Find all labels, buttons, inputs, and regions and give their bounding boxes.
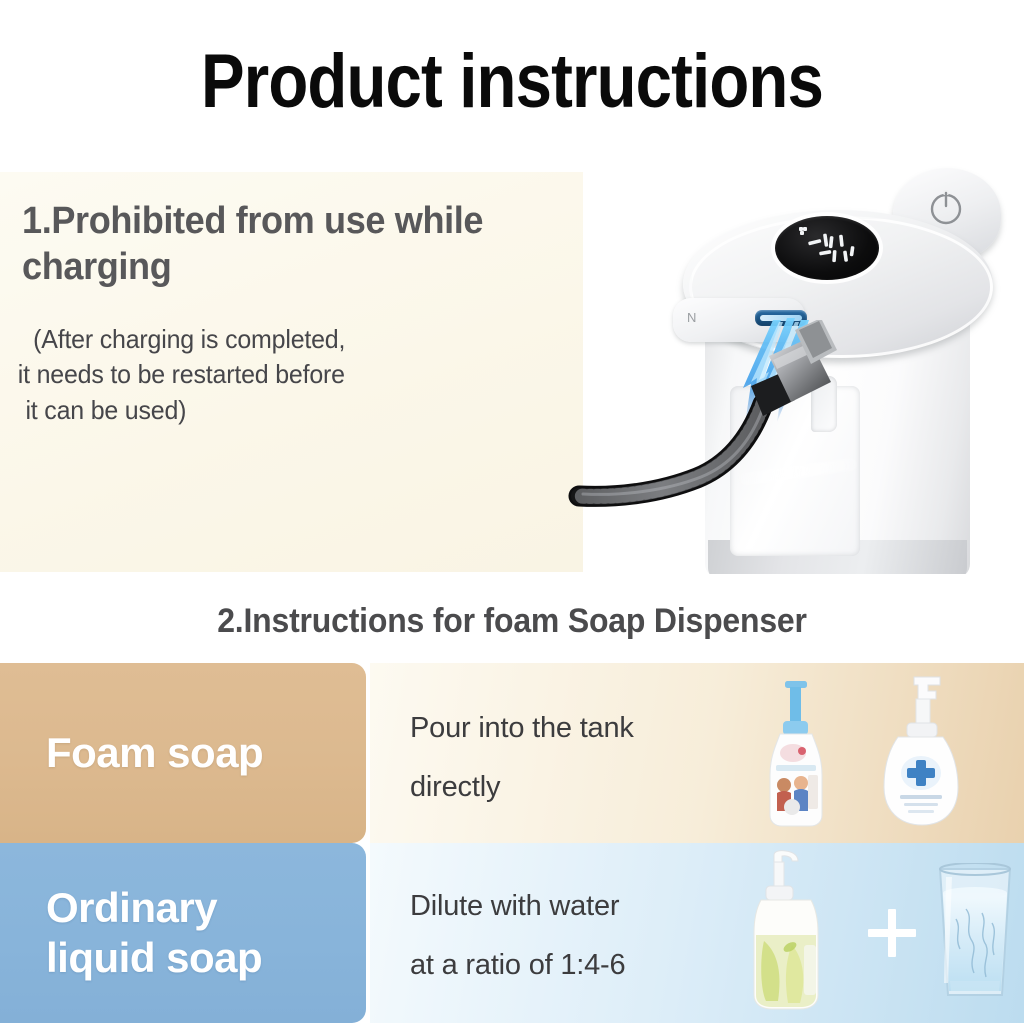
usb-c-cable — [565, 320, 855, 570]
liquid-desc-line-2: at a ratio of 1:4-6 — [410, 936, 740, 995]
dispenser-photo: N — [565, 150, 1024, 574]
section-1-note-line-1: (After charging is completed, — [12, 322, 550, 357]
plus-icon — [864, 905, 920, 961]
section-2-heading: 2.Instructions for foam Soap Dispenser — [31, 602, 994, 641]
row-description-foam-soap: Pour into the tank directly — [410, 699, 740, 818]
led-display-glyphs — [775, 216, 879, 280]
row-label-liquid-soap: Ordinary liquid soap — [0, 843, 366, 1023]
table-row-foam-soap: Foam soap Pour into the tank directly — [0, 663, 1024, 843]
row-description-liquid-soap: Dilute with water at a ratio of 1:4-6 — [410, 877, 740, 996]
section-1-note-line-2: it needs to be restarted before — [12, 357, 550, 392]
glass-of-water — [930, 863, 1020, 1005]
liquid-label-line-1: Ordinary — [46, 883, 262, 933]
section-1-heading: 1.Prohibited from use while charging — [22, 198, 540, 291]
liquid-soap-bottle — [734, 849, 838, 1015]
foam-soap-products — [724, 663, 1024, 843]
kids-foam-soap-bottle — [752, 679, 838, 829]
section-1-note: (After charging is completed, it needs t… — [12, 322, 550, 428]
row-content-foam-soap: Pour into the tank directly — [370, 663, 1024, 843]
foam-desc-line-1: Pour into the tank — [410, 699, 740, 758]
row-label-foam-soap: Foam soap — [0, 663, 366, 843]
liquid-desc-line-1: Dilute with water — [410, 877, 740, 936]
led-display — [775, 216, 879, 280]
row-label-liquid-soap-text: Ordinary liquid soap — [46, 883, 262, 982]
row-content-liquid-soap: Dilute with water at a ratio of 1:4-6 — [370, 843, 1024, 1023]
foam-desc-line-2: directly — [410, 758, 740, 817]
row-label-foam-soap-text: Foam soap — [46, 728, 263, 778]
page-title: Product instructions — [72, 38, 953, 125]
liquid-soap-products — [724, 843, 1024, 1023]
medical-foam-soap-bottle — [874, 673, 966, 831]
power-icon — [923, 184, 969, 230]
liquid-label-line-2: liquid soap — [46, 933, 262, 983]
product-instructions-infographic: Product instructions 1.Prohibited from u… — [0, 0, 1024, 1024]
section-1-note-line-3: it can be used) — [12, 393, 550, 428]
table-row-liquid-soap: Ordinary liquid soap Dilute with water a… — [0, 843, 1024, 1023]
